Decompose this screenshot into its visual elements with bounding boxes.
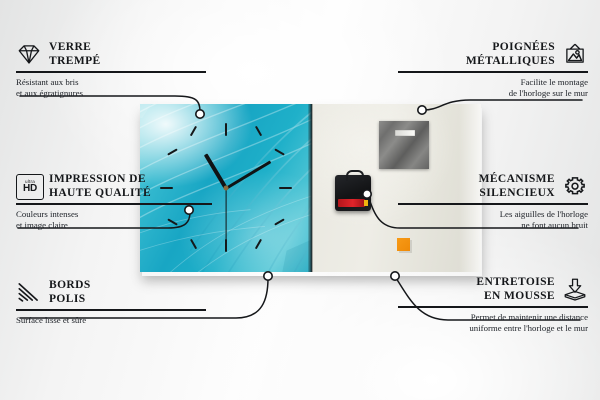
hour-tick <box>190 126 197 137</box>
ultra-hd-icon: ultra HD <box>16 174 42 198</box>
diagonal-lines-icon <box>16 280 42 304</box>
metal-hanger-plate <box>379 121 429 169</box>
hour-tick <box>255 126 262 137</box>
hour-tick <box>225 239 227 252</box>
gear-icon <box>562 174 588 198</box>
callout-title: IMPRESSION DE HAUTE QUALITÉ <box>49 172 151 200</box>
callout-impression: ultra HD IMPRESSION DE HAUTE QUALITÉ Cou… <box>16 172 212 232</box>
hour-tick <box>274 148 285 155</box>
callout-bords-polis: BORDS POLIS Surface lisse et sûre <box>16 278 206 326</box>
hanger-slot <box>395 130 415 136</box>
callout-header: VERRE TREMPÉ <box>16 40 206 68</box>
callout-entretoise: ENTRETOISE EN MOUSSE Permet de maintenir… <box>398 275 588 335</box>
hour-tick <box>255 239 262 250</box>
mechanism-hanger-loop <box>346 170 364 181</box>
callout-verre-trempe: VERRE TREMPÉ Résistant aux bris et aux é… <box>16 40 206 100</box>
callout-rule <box>398 306 588 308</box>
callout-rule <box>16 71 206 73</box>
callout-description: Permet de maintenir une distance uniform… <box>398 312 588 335</box>
callout-description: Surface lisse et sûre <box>16 315 206 327</box>
callout-title: ENTRETOISE EN MOUSSE <box>476 275 555 303</box>
callout-title: BORDS POLIS <box>49 278 91 306</box>
clock-center-pin <box>224 186 229 191</box>
hour-tick <box>190 239 197 250</box>
callout-header: BORDS POLIS <box>16 278 206 306</box>
infographic-canvas: VERRE TREMPÉ Résistant aux bris et aux é… <box>0 0 600 400</box>
second-hand <box>225 189 226 241</box>
callout-mecanisme: MÉCANISME SILENCIEUX Les aiguilles de l'… <box>398 172 588 232</box>
foam-spacer <box>397 238 410 251</box>
callout-rule <box>16 309 206 311</box>
callout-poignees: POIGNÉES MÉTALLIQUES Facilite le montage… <box>398 40 588 100</box>
quartz-mechanism <box>335 175 371 211</box>
badge-hd-text: HD <box>23 184 37 194</box>
callout-title: POIGNÉES MÉTALLIQUES <box>466 40 555 68</box>
battery-terminal <box>364 200 368 206</box>
callout-header: ultra HD IMPRESSION DE HAUTE QUALITÉ <box>16 172 212 200</box>
callout-rule <box>398 203 588 205</box>
callout-header: ENTRETOISE EN MOUSSE <box>398 275 588 303</box>
callout-description: Couleurs intenses et image claire <box>16 209 212 232</box>
battery <box>338 199 365 207</box>
callout-header: MÉCANISME SILENCIEUX <box>398 172 588 200</box>
callout-title: MÉCANISME SILENCIEUX <box>479 172 555 200</box>
minute-hand <box>225 161 271 191</box>
arrow-down-pad-icon <box>562 277 588 301</box>
callout-rule <box>398 71 588 73</box>
callout-title: VERRE TREMPÉ <box>49 40 101 68</box>
callout-description: Résistant aux bris et aux égratignures <box>16 77 206 100</box>
hour-tick <box>167 148 178 155</box>
hour-tick <box>279 187 292 189</box>
callout-description: Facilite le montage de l'horloge sur le … <box>398 77 588 100</box>
callout-description: Les aiguilles de l'horloge ne font aucun… <box>398 209 588 232</box>
hour-tick <box>274 218 285 225</box>
hour-tick <box>225 123 227 136</box>
callout-header: POIGNÉES MÉTALLIQUES <box>398 40 588 68</box>
picture-frame-icon <box>562 42 588 66</box>
callout-rule <box>16 203 212 205</box>
diamond-icon <box>16 42 42 66</box>
